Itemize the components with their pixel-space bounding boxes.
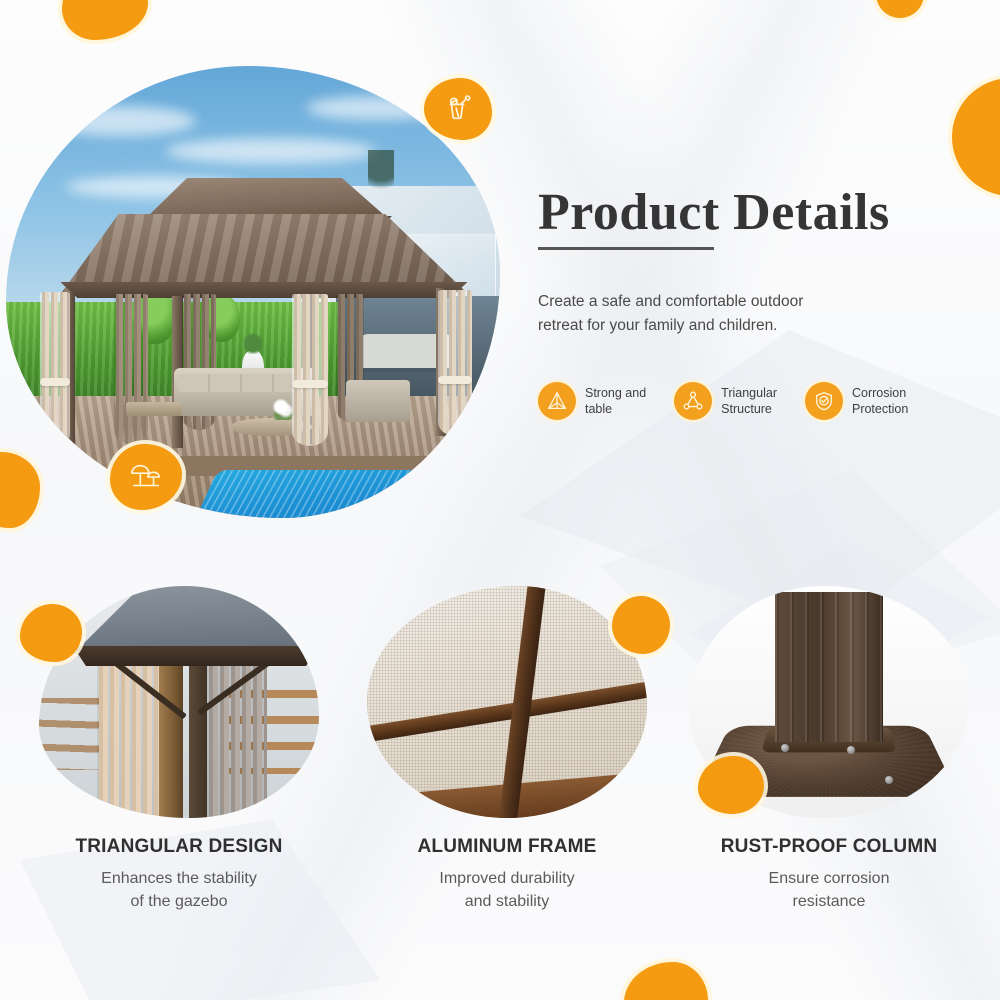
page-title: Product Details	[538, 186, 968, 241]
decorative-blob-right	[952, 78, 1000, 196]
side-table	[126, 402, 182, 416]
pyramid-icon	[538, 382, 576, 420]
swimming-pool	[186, 470, 500, 518]
aluminum-frame-image	[367, 586, 647, 818]
triangular-design-image	[39, 586, 319, 818]
shield-check-icon	[805, 382, 843, 420]
hero-gazebo-image	[6, 66, 500, 518]
gazebo-curtain	[40, 292, 70, 448]
feature-card-title: ALUMINUM FRAME	[350, 836, 664, 858]
feature-badge-label: Corrosion Protection	[852, 385, 908, 417]
cocktail-drink-icon	[443, 94, 473, 124]
product-feature-cards: TRIANGULAR DESIGN Enhances the stability…	[0, 586, 1000, 966]
palm-tree	[368, 150, 394, 206]
beach-parasol-icon	[129, 462, 163, 492]
outdoor-armchair	[346, 380, 410, 422]
gazebo-roof-fascia	[65, 646, 319, 666]
product-details-infographic: Product Details Create a safe and comfor…	[0, 0, 1000, 1000]
page-subtitle: Create a safe and comfortable outdoor re…	[538, 290, 848, 338]
bolt	[781, 744, 789, 752]
feature-card-title: RUST-PROOF COLUMN	[672, 836, 986, 858]
gazebo-curtain	[292, 294, 328, 446]
feature-badge-triangular-structure: Triangular Structure	[674, 382, 777, 420]
curtain-tieback	[438, 376, 472, 384]
decorative-blob-card-1	[20, 604, 82, 662]
curtain-tieback	[292, 380, 328, 388]
curtain-tieback	[40, 378, 70, 386]
decorative-blob-card-3	[698, 756, 764, 814]
decorative-blob-top-right	[876, 0, 924, 18]
bolt	[847, 746, 855, 754]
gazebo-column	[775, 592, 883, 742]
bolt	[885, 776, 893, 784]
feature-card-description: Improved durability and stability	[350, 868, 664, 913]
feature-badge-label: Strong and table	[585, 385, 646, 417]
cloud	[166, 138, 376, 164]
feature-card-description: Ensure corrosion resistance	[672, 868, 986, 913]
feature-badge-strong-table: Strong and table	[538, 382, 646, 420]
feature-badge-corrosion-protection: Corrosion Protection	[805, 382, 908, 420]
feature-card-rust-proof-column: RUST-PROOF COLUMN Ensure corrosion resis…	[672, 586, 986, 913]
decorative-blob-card-2	[612, 596, 670, 654]
feature-badge-label: Triangular Structure	[721, 385, 777, 417]
product-details-text-column: Product Details Create a safe and comfor…	[538, 186, 968, 420]
gazebo-curtain	[438, 290, 472, 436]
feature-badge-list: Strong and table Triangular Structure	[538, 382, 968, 420]
flower-arrangement	[272, 398, 294, 420]
gazebo-post	[159, 662, 183, 818]
cloud	[46, 106, 196, 136]
decorative-blob-bottom	[624, 962, 708, 1000]
gazebo-post	[189, 662, 207, 818]
feature-card-title: TRIANGULAR DESIGN	[22, 836, 336, 858]
triangle-nodes-icon	[674, 382, 712, 420]
decorative-blob-top	[62, 0, 148, 40]
gazebo-curtain	[114, 294, 148, 444]
title-underline	[538, 247, 714, 250]
feature-card-description: Enhances the stability of the gazebo	[22, 868, 336, 913]
